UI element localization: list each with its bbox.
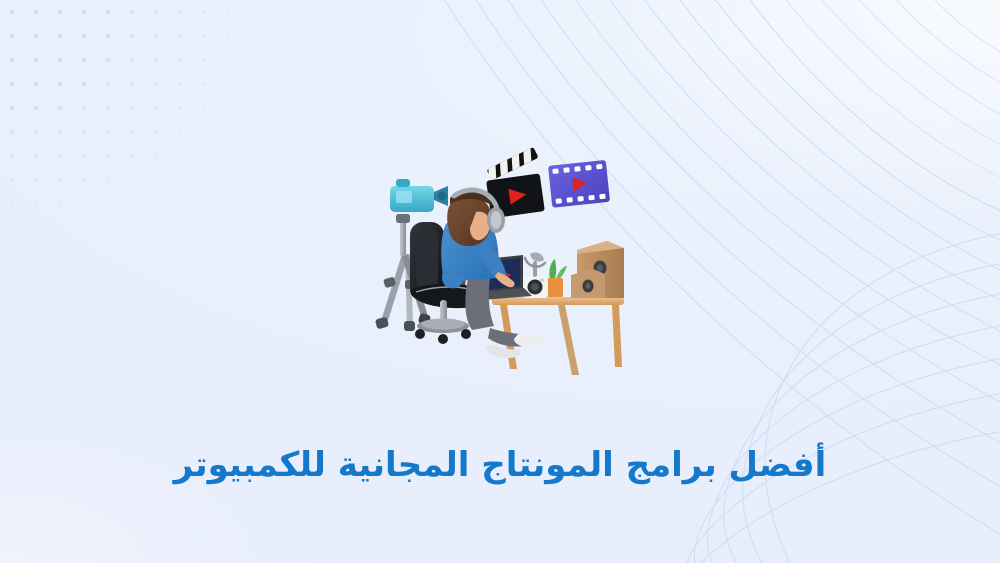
banner-canvas: أفضل برامج المونتاج المجانية للكمبيوتر	[0, 0, 1000, 563]
page-title: أفضل برامج المونتاج المجانية للكمبيوتر	[0, 441, 1000, 490]
potted-plant-icon	[547, 259, 567, 297]
person	[441, 190, 548, 358]
speaker-box-small	[571, 269, 605, 298]
dot-grid-pattern	[0, 0, 294, 274]
studio-microphone-icon	[525, 252, 545, 277]
video-editor-illustration	[372, 158, 624, 396]
clapperboard-icon	[481, 146, 546, 218]
film-strip-icon	[548, 160, 610, 208]
video-camera-icon	[390, 179, 448, 212]
